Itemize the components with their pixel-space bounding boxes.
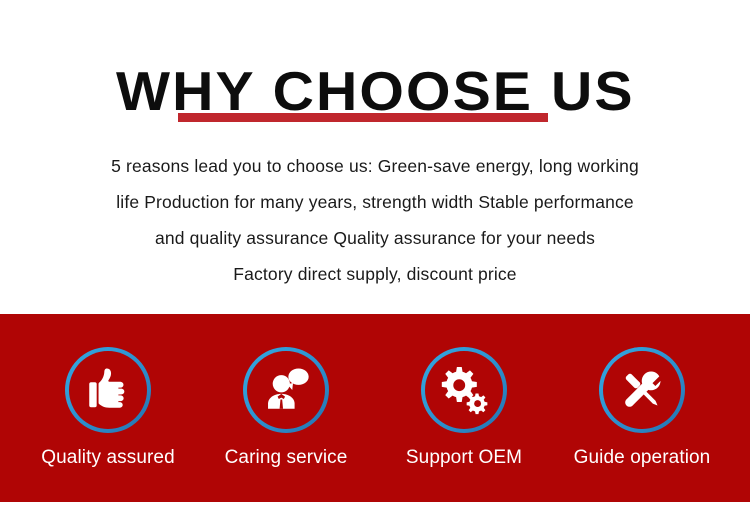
feature-label: Support OEM: [406, 447, 522, 469]
description-line-2: life Production for many years, strength…: [0, 184, 750, 220]
feature-label: Caring service: [225, 447, 348, 469]
intro-section: WHY CHOOSE US 5 reasons lead you to choo…: [0, 0, 750, 314]
feature-item-guide-operation[interactable]: Guide operation: [556, 314, 728, 469]
gears-icon: [425, 351, 503, 429]
icon-ring: [243, 347, 329, 433]
description-line-1: 5 reasons lead you to choose us: Green-s…: [0, 148, 750, 184]
icon-ring: [599, 347, 685, 433]
description-line-4: Factory direct supply, discount price: [0, 256, 750, 292]
footer-strip: [0, 502, 750, 512]
why-choose-us-banner: WHY CHOOSE US 5 reasons lead you to choo…: [0, 0, 750, 512]
feature-item-support-oem[interactable]: Support OEM: [378, 314, 550, 469]
title-inner: WHY CHOOSE US: [126, 60, 625, 122]
feature-item-caring-service[interactable]: Caring service: [200, 314, 372, 469]
icon-ring: [65, 347, 151, 433]
icon-ring: [421, 347, 507, 433]
description-block: 5 reasons lead you to choose us: Green-s…: [0, 148, 750, 292]
features-band: Quality assured: [0, 314, 750, 502]
description-line-3: and quality assurance Quality assurance …: [0, 220, 750, 256]
person-speech-bubble-icon: [247, 351, 325, 429]
title-underline-accent: [178, 113, 548, 122]
feature-label: Quality assured: [41, 447, 175, 469]
features-row: Quality assured: [0, 314, 750, 502]
wrench-screwdriver-icon: [603, 351, 681, 429]
thumbs-up-icon: [69, 351, 147, 429]
title-block: WHY CHOOSE US: [0, 60, 750, 130]
feature-item-quality-assured[interactable]: Quality assured: [22, 314, 194, 469]
feature-label: Guide operation: [574, 447, 711, 469]
